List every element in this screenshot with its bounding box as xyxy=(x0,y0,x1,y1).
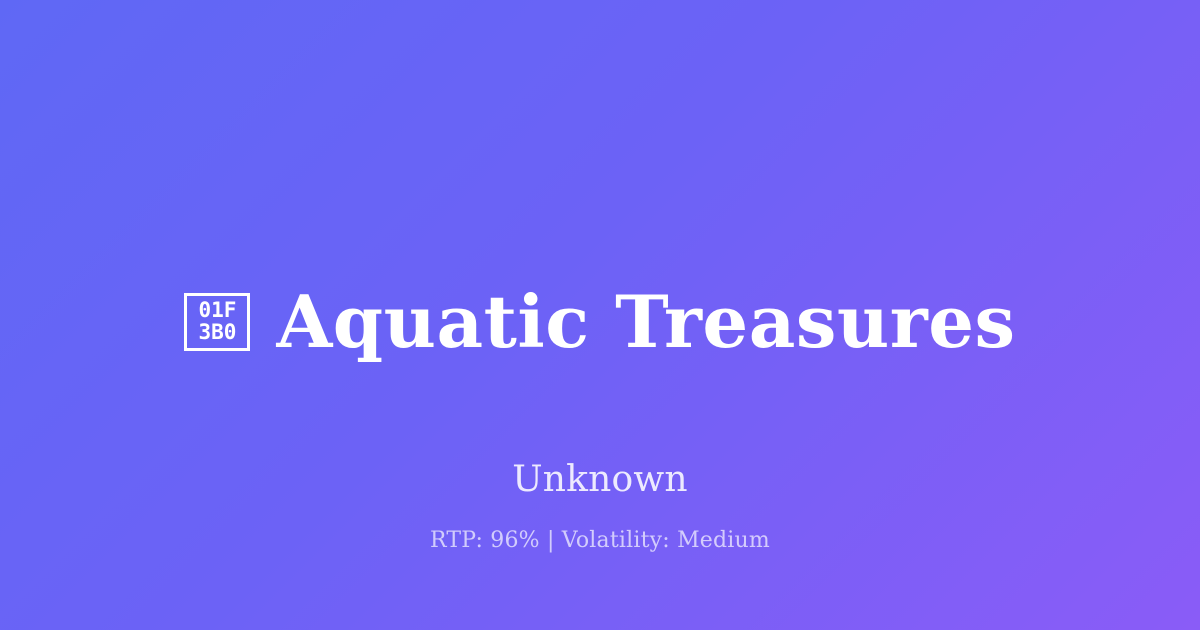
provider-name: Unknown xyxy=(512,460,688,500)
game-title: Aquatic Treasures xyxy=(276,284,1015,360)
slot-machine-icon: 01F 3B0 xyxy=(184,293,250,351)
share-card: 01F 3B0 Aquatic Treasures Unknown RTP: 9… xyxy=(0,0,1200,630)
title-row: 01F 3B0 Aquatic Treasures xyxy=(184,236,1015,408)
tofu-codepoint-bottom: 3B0 xyxy=(198,322,236,344)
tofu-codepoint-top: 01F xyxy=(198,300,236,322)
game-meta-line: RTP: 96% | Volatility: Medium xyxy=(0,528,1200,553)
